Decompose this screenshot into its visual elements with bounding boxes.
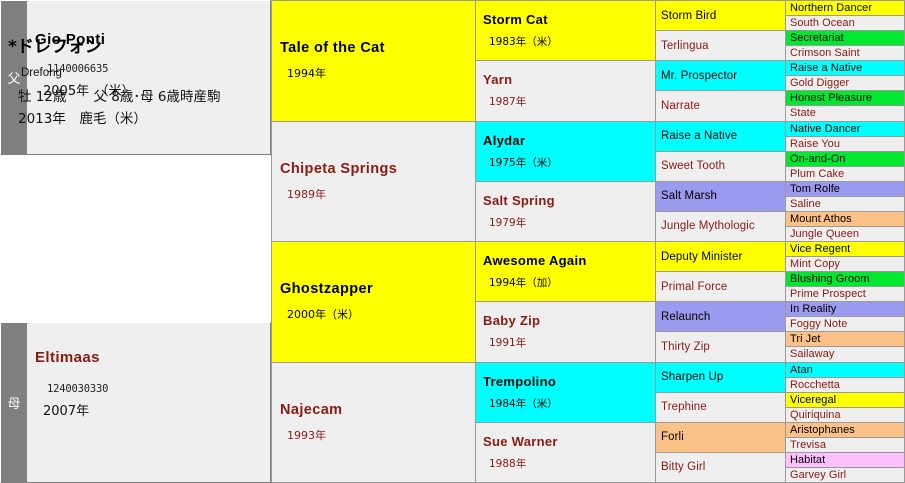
pedigree-cell-gen3-3[interactable]: Salt Spring1979年 [476, 182, 656, 242]
pedigree-horse-name[interactable]: Alydar [483, 133, 655, 148]
pedigree-cell-gen5-0[interactable]: Northern Dancer [786, 0, 905, 16]
pedigree-cell-gen3-6[interactable]: Trempolino1984年（米） [476, 363, 656, 423]
dam-info-panel[interactable]: 母 Eltimaas 1240030330 2007年 [0, 322, 271, 483]
pedigree-cell-gen4-4[interactable]: Raise a Native [656, 122, 786, 152]
subject-horse-name-en: Drefong [21, 67, 62, 79]
subject-horse-name-jp: *ドレフォン [8, 32, 102, 57]
pedigree-cell-gen5-9[interactable]: Raise You [786, 137, 905, 152]
pedigree-column-gen3: Storm Cat1983年（米）Yarn1987年Alydar1975年（米）… [476, 0, 656, 483]
pedigree-cell-gen4-1[interactable]: Terlingua [656, 31, 786, 61]
pedigree-column-gen5: Northern DancerSouth OceanSecretariatCri… [786, 0, 905, 483]
pedigree-cell-gen4-13[interactable]: Trephine [656, 393, 786, 423]
pedigree-horse-name[interactable]: Yarn [483, 72, 655, 87]
pedigree-cell-gen5-2[interactable]: Secretariat [786, 31, 905, 46]
pedigree-cell-gen5-23[interactable]: Sailaway [786, 347, 905, 362]
pedigree-cell-gen5-22[interactable]: Tri Jet [786, 332, 905, 347]
pedigree-cell-gen4-8[interactable]: Deputy Minister [656, 242, 786, 272]
pedigree-cell-gen2-3[interactable]: Najecam1993年 [271, 363, 476, 483]
pedigree-cell-gen5-13[interactable]: Saline [786, 197, 905, 212]
pedigree-horse-year: 1983年（米） [483, 34, 655, 49]
pedigree-cell-gen4-0[interactable]: Storm Bird [656, 0, 786, 31]
pedigree-cell-gen2-2[interactable]: Ghostzapper2000年（米） [271, 242, 476, 363]
pedigree-grid: Tale of the Cat1994年Chipeta Springs1989年… [271, 0, 905, 483]
pedigree-horse-name[interactable]: Sue Warner [483, 434, 655, 449]
pedigree-page: 父 Gio Ponti 1140006635 2005年 （米） 産駒一覧 産駒… [0, 0, 905, 483]
pedigree-cell-gen4-15[interactable]: Bitty Girl [656, 453, 786, 483]
subject-horse-detail-line-1: 牡 12歳 父 8歳･母 6歳時産駒 [18, 85, 220, 105]
pedigree-cell-gen3-4[interactable]: Awesome Again1994年（加） [476, 242, 656, 302]
pedigree-cell-gen3-5[interactable]: Baby Zip1991年 [476, 302, 656, 362]
pedigree-horse-year: 1994年 [280, 65, 475, 81]
pedigree-cell-gen4-7[interactable]: Jungle Mythologic [656, 212, 786, 242]
pedigree-cell-gen5-20[interactable]: In Reality [786, 302, 905, 317]
dam-info-body: Eltimaas 1240030330 2007年 [27, 323, 270, 482]
pedigree-cell-gen5-6[interactable]: Honest Pleasure [786, 91, 905, 106]
pedigree-horse-year: 1994年（加） [483, 275, 655, 290]
pedigree-cell-gen3-1[interactable]: Yarn1987年 [476, 61, 656, 121]
pedigree-horse-name[interactable]: Tale of the Cat [280, 40, 475, 56]
dam-year-country: 2007年 [43, 400, 89, 419]
pedigree-horse-year: 1987年 [483, 94, 655, 109]
pedigree-cell-gen2-1[interactable]: Chipeta Springs1989年 [271, 122, 476, 243]
pedigree-horse-name[interactable]: Chipeta Springs [280, 161, 475, 177]
pedigree-cell-gen5-27[interactable]: Quiriquina [786, 408, 905, 423]
sire-info-body: Gio Ponti 1140006635 2005年 （米） [27, 1, 270, 154]
pedigree-cell-gen5-7[interactable]: State [786, 106, 905, 121]
pedigree-cell-gen4-6[interactable]: Salt Marsh [656, 182, 786, 212]
pedigree-horse-name[interactable]: Trempolino [483, 374, 655, 389]
pedigree-cell-gen5-16[interactable]: Vice Regent [786, 242, 905, 257]
dam-name[interactable]: Eltimaas [35, 349, 100, 366]
pedigree-cell-gen5-4[interactable]: Raise a Native [786, 61, 905, 76]
pedigree-cell-gen3-2[interactable]: Alydar1975年（米） [476, 122, 656, 182]
pedigree-cell-gen5-17[interactable]: Mint Copy [786, 257, 905, 272]
pedigree-horse-name[interactable]: Storm Cat [483, 12, 655, 27]
dam-registration-number: 1240030330 [47, 383, 108, 395]
pedigree-cell-gen5-25[interactable]: Rocchetta [786, 378, 905, 393]
pedigree-cell-gen5-18[interactable]: Blushing Groom [786, 272, 905, 287]
pedigree-horse-year: 1979年 [483, 215, 655, 230]
pedigree-cell-gen5-12[interactable]: Tom Rolfe [786, 182, 905, 197]
pedigree-horse-name[interactable]: Ghostzapper [280, 281, 475, 297]
pedigree-cell-gen4-10[interactable]: Relaunch [656, 302, 786, 332]
dam-gender-tab: 母 [1, 323, 27, 482]
pedigree-cell-gen4-12[interactable]: Sharpen Up [656, 363, 786, 393]
pedigree-cell-gen5-30[interactable]: Habitat [786, 453, 905, 468]
pedigree-cell-gen5-29[interactable]: Trevisa [786, 438, 905, 453]
pedigree-cell-gen5-31[interactable]: Garvey Girl [786, 468, 905, 483]
pedigree-cell-gen4-14[interactable]: Forli [656, 423, 786, 453]
pedigree-cell-gen5-28[interactable]: Aristophanes [786, 423, 905, 438]
pedigree-horse-year: 1984年（米） [483, 396, 655, 411]
pedigree-cell-gen3-7[interactable]: Sue Warner1988年 [476, 423, 656, 483]
pedigree-cell-gen4-2[interactable]: Mr. Prospector [656, 61, 786, 91]
pedigree-horse-name[interactable]: Awesome Again [483, 253, 655, 268]
pedigree-cell-gen4-5[interactable]: Sweet Tooth [656, 152, 786, 182]
pedigree-cell-gen5-10[interactable]: On-and-On [786, 152, 905, 167]
pedigree-cell-gen5-21[interactable]: Foggy Note [786, 317, 905, 332]
pedigree-cell-gen5-1[interactable]: South Ocean [786, 16, 905, 31]
pedigree-cell-gen5-3[interactable]: Crimson Saint [786, 46, 905, 61]
pedigree-horse-year: 1991年 [483, 335, 655, 350]
pedigree-cell-gen5-26[interactable]: Viceregal [786, 393, 905, 408]
pedigree-horse-year: 1993年 [280, 427, 475, 443]
pedigree-cell-gen5-11[interactable]: Plum Cake [786, 167, 905, 182]
pedigree-horse-year: 1975年（米） [483, 155, 655, 170]
pedigree-cell-gen3-0[interactable]: Storm Cat1983年（米） [476, 0, 656, 61]
pedigree-horse-year: 1988年 [483, 456, 655, 471]
pedigree-cell-gen5-14[interactable]: Mount Athos [786, 212, 905, 227]
pedigree-cell-gen5-5[interactable]: Gold Digger [786, 76, 905, 91]
pedigree-cell-gen5-15[interactable]: Jungle Queen [786, 227, 905, 242]
pedigree-horse-name[interactable]: Salt Spring [483, 193, 655, 208]
pedigree-cell-gen4-9[interactable]: Primal Force [656, 272, 786, 302]
pedigree-column-gen2: Tale of the Cat1994年Chipeta Springs1989年… [271, 0, 476, 483]
subject-horse-detail-line-2: 2013年 鹿毛（米） [18, 107, 147, 127]
pedigree-horse-year: 2000年（米） [280, 306, 475, 322]
pedigree-cell-gen4-3[interactable]: Narrate [656, 91, 786, 121]
pedigree-column-gen4: Storm BirdTerlinguaMr. ProspectorNarrate… [656, 0, 786, 483]
pedigree-cell-gen5-8[interactable]: Native Dancer [786, 122, 905, 137]
pedigree-horse-name[interactable]: Baby Zip [483, 313, 655, 328]
pedigree-horse-year: 1989年 [280, 186, 475, 202]
pedigree-cell-gen5-24[interactable]: Atan [786, 363, 905, 378]
pedigree-cell-gen2-0[interactable]: Tale of the Cat1994年 [271, 0, 476, 122]
pedigree-cell-gen5-19[interactable]: Prime Prospect [786, 287, 905, 302]
pedigree-horse-name[interactable]: Najecam [280, 402, 475, 418]
pedigree-cell-gen4-11[interactable]: Thirty Zip [656, 332, 786, 362]
